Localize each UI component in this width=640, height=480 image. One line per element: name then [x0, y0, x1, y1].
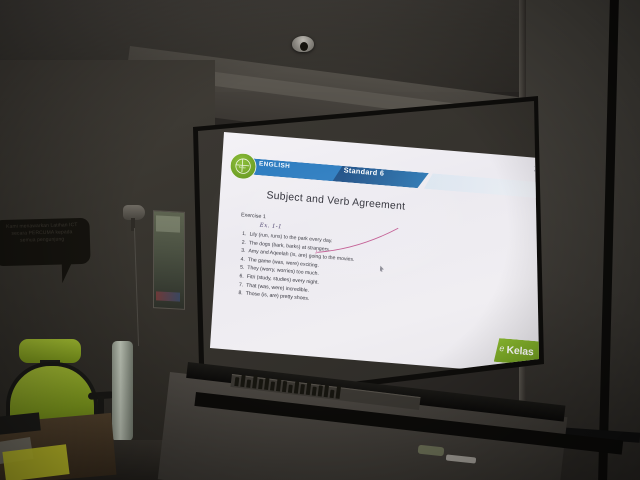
exercise-heading: Exercise 1	[241, 212, 266, 220]
pen[interactable]	[240, 375, 245, 387]
banner-wedge	[424, 173, 545, 199]
lesson-slide: MBK MR TENG THIAM SIEW PS MELAKA SG. UDA…	[210, 132, 568, 376]
mic-status-icon	[402, 141, 406, 145]
pen[interactable]	[288, 385, 293, 393]
pen[interactable]	[300, 384, 305, 394]
slide-title: Subject and Verb Agreement	[266, 189, 405, 212]
dome-camera-icon	[292, 36, 314, 52]
participant-tile[interactable]	[224, 132, 278, 136]
person-body-icon	[286, 132, 319, 140]
poster-top-panel	[156, 215, 180, 232]
logo-name: Kelas	[506, 344, 534, 358]
pen[interactable]	[276, 378, 282, 391]
logo-e-letter: e	[499, 344, 505, 354]
participant-label: MBK MR TENG THIAM SIEW	[331, 136, 379, 144]
room-object	[362, 132, 379, 137]
projected-slide-area: MBK MR TENG THIAM SIEW PS MELAKA SG. UDA…	[186, 96, 546, 406]
floor-cylinder-object	[112, 341, 133, 441]
camera-lens-icon	[300, 42, 308, 51]
pen[interactable]	[264, 378, 269, 390]
participant-tile[interactable]	[277, 132, 331, 141]
room-object	[453, 132, 468, 142]
pen[interactable]	[318, 385, 323, 396]
speech-bubble-tail-icon	[62, 261, 74, 283]
participant-tile[interactable]: PS MELAKA SG. UDANG	[400, 132, 479, 153]
pen[interactable]	[330, 390, 335, 398]
room-object	[431, 132, 448, 141]
handwritten-annotation-text: Ex. 1-1	[260, 222, 282, 230]
pen[interactable]	[258, 379, 263, 389]
pen[interactable]	[270, 381, 275, 390]
room-object	[337, 132, 357, 133]
room-object	[409, 132, 424, 139]
wall-sign-text: Kami menawarkan Latihan ICT secara PERCU…	[0, 222, 88, 245]
participant-tile[interactable]: MBK MR TENG THIAM SIEW	[330, 132, 401, 146]
pen[interactable]	[294, 381, 299, 393]
pen[interactable]	[252, 375, 258, 388]
pen[interactable]	[336, 385, 342, 398]
classroom-photo: Kami menawarkan Latihan ICT secara PERCU…	[0, 0, 640, 480]
pen[interactable]	[282, 381, 287, 392]
pen[interactable]	[234, 377, 239, 386]
pen[interactable]	[324, 385, 329, 397]
pen[interactable]	[246, 379, 251, 387]
pen[interactable]	[312, 386, 317, 395]
poster-bottom-band	[156, 291, 180, 301]
participant-label: PS MELAKA SG. UDANG	[402, 142, 444, 149]
pen[interactable]	[306, 382, 312, 395]
mouse-cursor-icon	[380, 266, 384, 273]
participant-thumbnail-strip[interactable]: MBK MR TENG THIAM SIEW PS MELAKA SG. UDA…	[224, 132, 568, 160]
ink-annotation-arrow	[313, 220, 403, 261]
